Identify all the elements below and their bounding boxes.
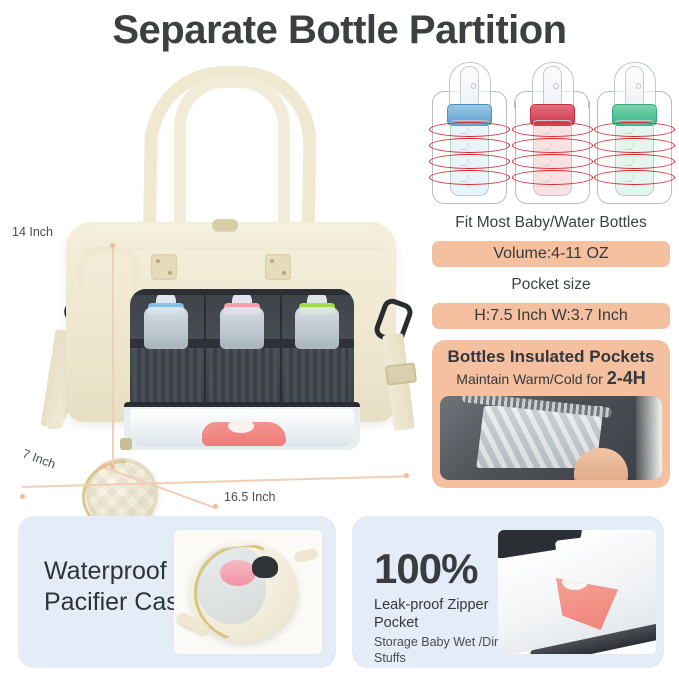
- panel-waterproof-pacifier-case: Waterproof Pacifier Case: [18, 516, 336, 668]
- bottle-body: [220, 307, 264, 349]
- elastic-band: [429, 170, 510, 185]
- elastic-band: [512, 170, 593, 185]
- bag-side-handle-loop: [78, 246, 140, 287]
- panel-left-text: Waterproof Pacifier Case: [44, 556, 193, 617]
- pink-cloth: [202, 422, 286, 446]
- bottle-body: [295, 307, 339, 349]
- bottle-compartment: [130, 289, 354, 405]
- pocket-size-caption: Pocket size: [432, 276, 670, 294]
- fit-caption: Fit Most Baby/Water Bottles: [432, 214, 670, 232]
- dimension-endpoint-dot: [213, 504, 218, 509]
- bottle-in-pocket-pink: [217, 291, 267, 349]
- insulated-pocket-photo: [440, 396, 662, 480]
- shoulder-strap-right: [354, 298, 418, 428]
- elastic-band: [512, 154, 593, 169]
- elastic-band: [594, 154, 675, 169]
- elastic-band: [594, 138, 675, 153]
- dimension-endpoint-dot: [404, 473, 409, 478]
- top-zipper-pull-icon: [212, 219, 238, 231]
- elastic-bands-group: [429, 122, 508, 188]
- front-flap-pocket: [124, 402, 360, 450]
- elastic-bands-group: [512, 122, 591, 188]
- elastic-bands-group: [594, 122, 673, 188]
- bottle-diagram-cell: [597, 56, 670, 206]
- dimension-endpoint-dot: [20, 494, 25, 499]
- handle-rivet-tab-right: [265, 254, 291, 280]
- elastic-band: [594, 122, 675, 137]
- elastic-band: [512, 122, 593, 137]
- insulated-subtitle-prefix: Maintain Warm/Cold for: [456, 371, 606, 387]
- dimension-label-width: 16.5 Inch: [224, 490, 275, 504]
- page-title: Separate Bottle Partition: [0, 6, 679, 55]
- dimension-endpoint-dot: [110, 243, 115, 248]
- specs-column: Fit Most Baby/Water Bottles Volume:4-11 …: [432, 56, 670, 488]
- pocket-size-badge: H:7.5 Inch W:3.7 Inch: [432, 303, 670, 329]
- dimension-label-height: 14 Inch: [12, 225, 53, 239]
- dimension-line-height: [112, 245, 114, 467]
- bottle-diagram-cell: [432, 56, 505, 206]
- elastic-band: [429, 138, 510, 153]
- flap-zipper-pull-icon: [120, 438, 132, 450]
- infographic-root: Separate Bottle Partition: [0, 0, 679, 679]
- pocket-gather: [133, 348, 201, 405]
- handle-rivet-tab-left: [151, 254, 177, 280]
- panel-right-text: 100% Leak-proof Zipper Pocket Storage Ba…: [374, 548, 512, 667]
- volume-badge: Volume:4-11 OZ: [432, 241, 670, 267]
- pocket-gather: [209, 348, 277, 405]
- photo-white-edge: [636, 396, 662, 480]
- bottle-in-pocket-blue: [141, 291, 191, 349]
- panel-leak-proof-zipper-pocket: 100% Leak-proof Zipper Pocket Storage Ba…: [352, 516, 664, 668]
- panel-right-line1: Leak-proof Zipper Pocket: [374, 596, 512, 632]
- panel-left-line2: Pacifier Case: [44, 587, 193, 618]
- strap-adjuster-slider: [385, 362, 417, 386]
- pacifier-case-photo: [174, 530, 322, 654]
- elastic-band: [594, 170, 675, 185]
- insulated-subtitle: Maintain Warm/Cold for 2-4H: [440, 368, 662, 390]
- product-photo-diaper-bag: [38, 62, 428, 502]
- pacifier-case-side-tab: [293, 547, 319, 563]
- elastic-band: [429, 154, 510, 169]
- panel-right-line2: Storage Baby Wet /Dirty Stuffs: [374, 635, 512, 666]
- bottle-diagram-cell: [515, 56, 588, 206]
- insulated-pockets-card: Bottles Insulated Pockets Maintain Warm/…: [432, 340, 670, 488]
- panel-right-percent: 100%: [374, 548, 512, 590]
- insulated-duration: 2-4H: [607, 368, 646, 388]
- compartment-divider: [280, 295, 282, 405]
- elastic-band: [512, 138, 593, 153]
- elastic-band: [429, 122, 510, 137]
- compartment-divider: [204, 295, 206, 405]
- panel-left-line1: Waterproof: [44, 556, 193, 587]
- dimension-endpoint-dot: [101, 464, 106, 469]
- pocket-gather: [285, 348, 351, 405]
- leak-proof-pocket-photo: [498, 530, 656, 654]
- bottle-body: [144, 307, 188, 349]
- bottle-fit-diagram: [432, 56, 670, 206]
- insulated-title: Bottles Insulated Pockets: [440, 347, 662, 367]
- bottle-in-pocket-green: [292, 291, 342, 349]
